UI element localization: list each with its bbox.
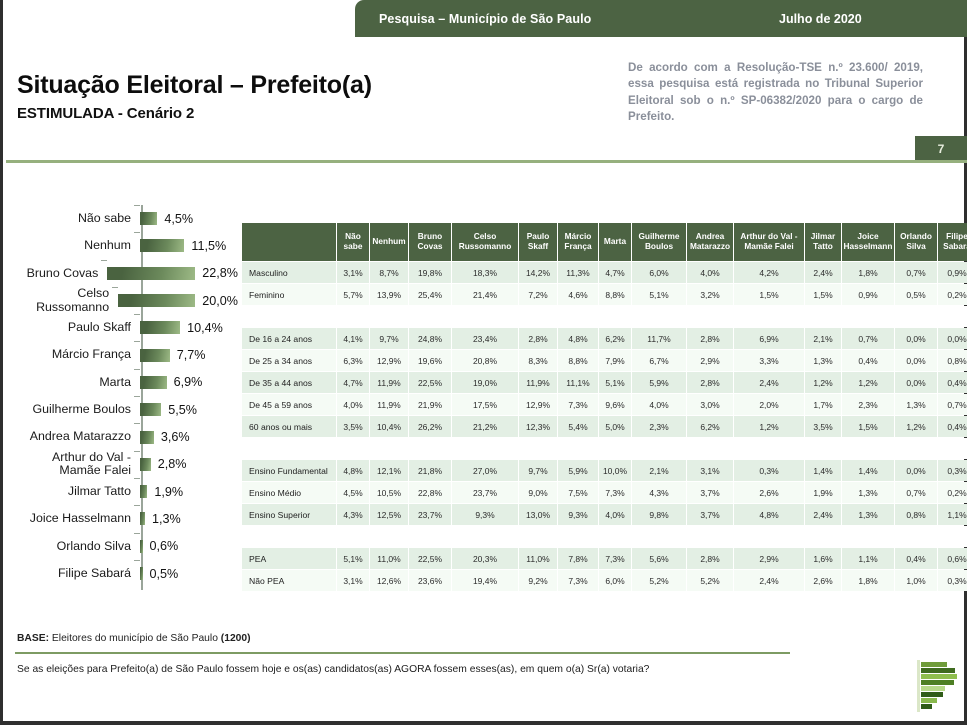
header-date: Julho de 2020 — [779, 12, 862, 26]
crosstab-cell: 1,2% — [895, 416, 937, 437]
crosstab-cell: 11,0% — [370, 548, 408, 569]
crosstab-cell: 21,9% — [409, 394, 451, 415]
crosstab-cell: 1,1% — [938, 504, 967, 525]
axis-tick — [134, 232, 140, 233]
crosstab-cell: 12,9% — [370, 350, 408, 371]
bar-row: Arthur do Val -Mamãe Falei2,8% — [13, 451, 238, 478]
crosstab-cell: 19,0% — [452, 372, 518, 393]
bar-category-label: Joice Hasselmann — [13, 512, 140, 525]
crosstab-cell: 9,0% — [519, 482, 557, 503]
bar-value-label: 0,5% — [150, 567, 179, 581]
crosstab-cell: 12,3% — [519, 416, 557, 437]
title-block: Situação Eleitoral – Prefeito(a) ESTIMUL… — [17, 72, 372, 122]
bar-category-label: Arthur do Val -Mamãe Falei — [13, 451, 140, 478]
crosstab-cell: 0,2% — [938, 284, 967, 305]
table-row: De 45 a 59 anos4,0%11,9%21,9%17,5%12,9%7… — [242, 394, 967, 415]
bar-track: 3,6% — [140, 423, 238, 450]
bar-row: Filipe Sabará0,5% — [13, 560, 238, 587]
crosstab-cell: 4,3% — [632, 482, 686, 503]
bar-row: Jilmar Tatto1,9% — [13, 478, 238, 505]
spacer-cell — [242, 438, 967, 459]
crosstab-cell: 20,3% — [452, 548, 518, 569]
axis-tick — [134, 205, 140, 206]
crosstab-cell: 6,9% — [734, 328, 804, 349]
crosstab-cell: 12,6% — [370, 570, 408, 591]
crosstab-cell: 20,8% — [452, 350, 518, 371]
table-row: De 16 a 24 anos4,1%9,7%24,8%23,4%2,8%4,8… — [242, 328, 967, 349]
crosstab-col-header: Bruno Covas — [409, 223, 451, 261]
crosstab-cell: 0,3% — [938, 570, 967, 591]
bar-row: Celso Russomanno20,0% — [13, 287, 238, 314]
bar — [140, 239, 184, 252]
axis-tick — [134, 560, 140, 561]
crosstab-cell: 13,0% — [519, 504, 557, 525]
crosstab-cell: 7,3% — [599, 548, 631, 569]
crosstab-col-header: Paulo Skaff — [519, 223, 557, 261]
crosstab-cell: 11,9% — [370, 394, 408, 415]
bar — [140, 567, 143, 580]
crosstab-cell: 7,3% — [558, 394, 598, 415]
crosstab-cell: 3,0% — [687, 394, 733, 415]
crosstab-cell: 4,3% — [337, 504, 369, 525]
bar-value-label: 5,5% — [168, 403, 197, 417]
crosstab-cell: 5,1% — [337, 548, 369, 569]
logo-bar — [921, 692, 943, 697]
bar-category-label: Jilmar Tatto — [13, 485, 140, 498]
crosstab-cell: 4,0% — [337, 394, 369, 415]
crosstab-cell: 5,7% — [337, 284, 369, 305]
crosstab-cell: 11,0% — [519, 548, 557, 569]
crosstab-cell: 11,3% — [558, 262, 598, 283]
bar — [118, 294, 195, 307]
crosstab-cell: 24,8% — [409, 328, 451, 349]
crosstab-col-header: Márcio França — [558, 223, 598, 261]
crosstab-cell: 8,8% — [599, 284, 631, 305]
crosstab-cell: 11,9% — [519, 372, 557, 393]
page-title: Situação Eleitoral – Prefeito(a) — [17, 72, 372, 98]
crosstab-col-header: Nenhum — [370, 223, 408, 261]
bar-row: Paulo Skaff10,4% — [13, 314, 238, 341]
base-label: BASE: — [17, 633, 49, 644]
crosstab-col-header: Jilmar Tatto — [805, 223, 841, 261]
crosstab-cell: 0,6% — [938, 548, 967, 569]
bar-row: Bruno Covas22,8% — [13, 260, 238, 287]
bar-category-label: Marta — [13, 376, 140, 389]
vote-intention-bar-chart: Não sabe4,5%Nenhum11,5%Bruno Covas22,8%C… — [13, 205, 238, 595]
crosstab-cell: 10,0% — [599, 460, 631, 481]
axis-tick — [112, 287, 118, 288]
table-row: Não PEA3,1%12,6%23,6%19,4%9,2%7,3%6,0%5,… — [242, 570, 967, 591]
table-row: PEA5,1%11,0%22,5%20,3%11,0%7,8%7,3%5,6%2… — [242, 548, 967, 569]
crosstab-col-header: Joice Hasselmann — [842, 223, 894, 261]
crosstab-group-spacer — [242, 438, 967, 459]
crosstab-cell: 0,0% — [895, 372, 937, 393]
footer-divider — [15, 652, 790, 654]
crosstab-cell: 0,4% — [895, 548, 937, 569]
crosstab-col-header: Celso Russomanno — [452, 223, 518, 261]
crosstab-cell: 2,1% — [805, 328, 841, 349]
crosstab-row-header: Não PEA — [242, 570, 336, 591]
crosstab-cell: 2,4% — [734, 372, 804, 393]
crosstab-cell: 5,9% — [558, 460, 598, 481]
bar-value-label: 1,9% — [154, 485, 183, 499]
crosstab-cell: 7,3% — [558, 570, 598, 591]
crosstab-cell: 4,8% — [558, 328, 598, 349]
crosstab-row-header: De 45 a 59 anos — [242, 394, 336, 415]
crosstab-cell: 0,8% — [938, 350, 967, 371]
crosstab-cell: 1,8% — [842, 570, 894, 591]
axis-tick — [134, 314, 140, 315]
crosstab-cell: 21,4% — [452, 284, 518, 305]
crosstab-cell: 6,2% — [687, 416, 733, 437]
crosstab-row-header: De 25 a 34 anos — [242, 350, 336, 371]
crosstab-cell: 2,9% — [687, 350, 733, 371]
crosstab-cell: 1,8% — [842, 262, 894, 283]
crosstab-cell: 11,1% — [558, 372, 598, 393]
bar-track: 22,8% — [107, 260, 238, 287]
bar-value-label: 10,4% — [187, 321, 223, 335]
crosstab-cell: 0,7% — [895, 262, 937, 283]
crosstab-cell: 0,0% — [938, 328, 967, 349]
bar-track: 0,5% — [140, 560, 238, 587]
bar-value-label: 20,0% — [202, 294, 238, 308]
bar-track: 1,9% — [140, 478, 238, 505]
crosstab-cell: 2,0% — [734, 394, 804, 415]
table-row: Ensino Fundamental4,8%12,1%21,8%27,0%9,7… — [242, 460, 967, 481]
bar-category-label: Andrea Matarazzo — [13, 430, 140, 443]
crosstab-cell: 3,7% — [687, 482, 733, 503]
crosstab-col-header: Não sabe — [337, 223, 369, 261]
crosstab-cell: 22,5% — [409, 548, 451, 569]
crosstab-cell: 2,3% — [842, 394, 894, 415]
crosstab-cell: 6,3% — [337, 350, 369, 371]
bar — [140, 403, 161, 416]
crosstab-cell: 1,6% — [805, 548, 841, 569]
crosstab-cell: 0,3% — [938, 460, 967, 481]
crosstab-cell: 19,4% — [452, 570, 518, 591]
axis-tick — [134, 505, 140, 506]
logo-bar — [921, 674, 957, 679]
bar-track: 6,9% — [140, 369, 238, 396]
bar-track: 2,8% — [140, 451, 238, 478]
bar-value-label: 3,6% — [161, 430, 190, 444]
crosstab-cell: 6,2% — [599, 328, 631, 349]
table-row: De 35 a 44 anos4,7%11,9%22,5%19,0%11,9%1… — [242, 372, 967, 393]
crosstab-cell: 2,6% — [734, 482, 804, 503]
crosstab-cell: 8,8% — [558, 350, 598, 371]
crosstab-cell: 0,8% — [895, 504, 937, 525]
crosstab-cell: 6,0% — [599, 570, 631, 591]
crosstab-cell: 4,8% — [734, 504, 804, 525]
crosstab-cell: 7,2% — [519, 284, 557, 305]
crosstab-cell: 0,0% — [895, 460, 937, 481]
crosstab-cell: 2,3% — [632, 416, 686, 437]
logo-bar — [921, 698, 937, 703]
crosstab-cell: 3,3% — [734, 350, 804, 371]
table-row: Feminino5,7%13,9%25,4%21,4%7,2%4,6%8,8%5… — [242, 284, 967, 305]
bar-row: Marta6,9% — [13, 369, 238, 396]
crosstab-cell: 14,2% — [519, 262, 557, 283]
bar — [140, 431, 154, 444]
bar-category-label: Márcio França — [13, 348, 140, 361]
crosstab-cell: 4,8% — [337, 460, 369, 481]
crosstab-cell: 5,0% — [599, 416, 631, 437]
crosstab-cell: 2,4% — [805, 504, 841, 525]
crosstab-cell: 4,0% — [632, 394, 686, 415]
crosstab-cell: 0,9% — [842, 284, 894, 305]
crosstab-cell: 2,1% — [632, 460, 686, 481]
crosstab-cell: 0,4% — [938, 372, 967, 393]
header-band: Pesquisa – Município de São Paulo Julho … — [355, 0, 967, 37]
bar-value-label: 7,7% — [177, 348, 206, 362]
bar-category-label: Paulo Skaff — [13, 321, 140, 334]
axis-tick — [134, 396, 140, 397]
base-count: (1200) — [221, 633, 251, 644]
crosstab-col-header: Marta — [599, 223, 631, 261]
bar-category-label: Guilherme Boulos — [13, 403, 140, 416]
crosstab-cell: 1,2% — [734, 416, 804, 437]
crosstab-cell: 11,9% — [370, 372, 408, 393]
crosstab-col-header: Guilherme Boulos — [632, 223, 686, 261]
axis-tick — [134, 341, 140, 342]
crosstab-cell: 4,0% — [687, 262, 733, 283]
crosstab-cell: 27,0% — [452, 460, 518, 481]
crosstab-cell: 23,7% — [409, 504, 451, 525]
page-subtitle: ESTIMULADA - Cenário 2 — [17, 105, 372, 122]
crosstab-cell: 5,2% — [687, 570, 733, 591]
axis-tick — [101, 260, 107, 261]
bar — [140, 458, 151, 471]
crosstab-cell: 0,5% — [895, 284, 937, 305]
crosstab-table: Não sabeNenhumBruno CovasCelso Russomann… — [241, 222, 967, 592]
crosstab-cell: 1,3% — [842, 482, 894, 503]
bar-value-label: 0,6% — [150, 539, 179, 553]
crosstab-cell: 4,2% — [734, 262, 804, 283]
crosstab-cell: 19,8% — [409, 262, 451, 283]
base-text: Eleitores do município de São Paulo — [52, 633, 218, 644]
bar-category-label: Nenhum — [13, 239, 140, 252]
base-line: BASE: Eleitores do município de São Paul… — [17, 633, 251, 644]
crosstab-cell: 5,9% — [632, 372, 686, 393]
crosstab-cell: 10,4% — [370, 416, 408, 437]
bar-category-label: Celso Russomanno — [13, 287, 118, 314]
bar — [140, 485, 147, 498]
crosstab-cell: 2,8% — [687, 372, 733, 393]
bar-row: Orlando Silva0,6% — [13, 533, 238, 560]
bar — [140, 376, 167, 389]
logo-bar — [921, 686, 945, 691]
spacer-cell — [242, 306, 967, 327]
crosstab-cell: 8,7% — [370, 262, 408, 283]
crosstab-cell: 9,2% — [519, 570, 557, 591]
crosstab-cell: 1,4% — [842, 460, 894, 481]
bar-track: 20,0% — [118, 287, 238, 314]
crosstab-cell: 0,7% — [895, 482, 937, 503]
bar-rows-container: Não sabe4,5%Nenhum11,5%Bruno Covas22,8%C… — [13, 205, 238, 587]
crosstab-cell: 9,7% — [370, 328, 408, 349]
crosstab-row-header: Feminino — [242, 284, 336, 305]
crosstab-cell: 18,3% — [452, 262, 518, 283]
crosstab-cell: 5,1% — [632, 284, 686, 305]
crosstab-cell: 9,3% — [558, 504, 598, 525]
crosstab-cell: 5,6% — [632, 548, 686, 569]
crosstab-cell: 9,3% — [452, 504, 518, 525]
bar-row: Guilherme Boulos5,5% — [13, 396, 238, 423]
crosstab-cell: 5,4% — [558, 416, 598, 437]
crosstab-cell: 0,4% — [938, 416, 967, 437]
bar-value-label: 6,9% — [174, 375, 203, 389]
crosstab-row-header: PEA — [242, 548, 336, 569]
crosstab-cell: 4,5% — [337, 482, 369, 503]
question-text: Se as eleições para Prefeito(a) de São P… — [17, 664, 757, 675]
crosstab-group-spacer — [242, 306, 967, 327]
crosstab-cell: 7,9% — [599, 350, 631, 371]
crosstab-cell: 9,6% — [599, 394, 631, 415]
crosstab-cell: 22,5% — [409, 372, 451, 393]
resolution-note: De acordo com a Resolução-TSE n.º 23.600… — [628, 60, 923, 126]
crosstab-corner-cell — [242, 223, 336, 261]
crosstab-cell: 9,8% — [632, 504, 686, 525]
bar-value-label: 22,8% — [202, 266, 238, 280]
crosstab-cell: 4,0% — [599, 504, 631, 525]
bar-track: 11,5% — [140, 232, 238, 259]
table-row: 60 anos ou mais3,5%10,4%26,2%21,2%12,3%5… — [242, 416, 967, 437]
crosstab-row-header: De 35 a 44 anos — [242, 372, 336, 393]
crosstab-cell: 9,7% — [519, 460, 557, 481]
crosstab-cell: 2,4% — [734, 570, 804, 591]
crosstab-cell: 3,5% — [805, 416, 841, 437]
crosstab-cell: 1,2% — [805, 372, 841, 393]
crosstab-cell: 11,7% — [632, 328, 686, 349]
bar — [107, 267, 195, 280]
bar-row: Nenhum11,5% — [13, 232, 238, 259]
crosstab-cell: 17,5% — [452, 394, 518, 415]
bar-row: Joice Hasselmann1,3% — [13, 505, 238, 532]
bar — [140, 212, 157, 225]
header-divider — [6, 160, 967, 163]
crosstab-cell: 0,9% — [938, 262, 967, 283]
bar-track: 5,5% — [140, 396, 238, 423]
crosstab-cell: 26,2% — [409, 416, 451, 437]
crosstab-cell: 1,5% — [805, 284, 841, 305]
crosstab-cell: 13,9% — [370, 284, 408, 305]
axis-tick — [134, 478, 140, 479]
table-row: Masculino3,1%8,7%19,8%18,3%14,2%11,3%4,7… — [242, 262, 967, 283]
crosstab-cell: 8,3% — [519, 350, 557, 371]
table-row: Ensino Superior4,3%12,5%23,7%9,3%13,0%9,… — [242, 504, 967, 525]
bar-category-label: Bruno Covas — [13, 267, 107, 280]
crosstab-cell: 3,1% — [337, 570, 369, 591]
bar-value-label: 2,8% — [158, 457, 187, 471]
crosstab-col-header: Filipe Sabará — [938, 223, 967, 261]
logo-bar — [921, 704, 932, 709]
logo-bar — [921, 668, 955, 673]
crosstab-cell: 0,0% — [895, 328, 937, 349]
crosstab-cell: 10,5% — [370, 482, 408, 503]
p-logo-icon — [917, 660, 963, 712]
logo-bar — [921, 680, 954, 685]
crosstab-cell: 1,3% — [842, 504, 894, 525]
bar-category-label: Filipe Sabará — [13, 567, 140, 580]
crosstab-cell: 0,3% — [734, 460, 804, 481]
crosstab-row-header: De 16 a 24 anos — [242, 328, 336, 349]
crosstab-cell: 3,7% — [687, 504, 733, 525]
crosstab-cell: 7,5% — [558, 482, 598, 503]
bar-row: Andrea Matarazzo3,6% — [13, 423, 238, 450]
crosstab-cell: 7,8% — [558, 548, 598, 569]
crosstab-cell: 1,2% — [842, 372, 894, 393]
bar-track: 0,6% — [140, 533, 238, 560]
crosstab-cell: 1,9% — [805, 482, 841, 503]
crosstab-row-header: Masculino — [242, 262, 336, 283]
bar-value-label: 11,5% — [191, 239, 226, 253]
crosstab-row-header: Ensino Médio — [242, 482, 336, 503]
bar-category-label: Orlando Silva — [13, 540, 140, 553]
crosstab-cell: 19,6% — [409, 350, 451, 371]
crosstab-cell: 5,1% — [599, 372, 631, 393]
crosstab-cell: 4,7% — [337, 372, 369, 393]
crosstab-cell: 3,5% — [337, 416, 369, 437]
crosstab-row-header: Ensino Superior — [242, 504, 336, 525]
bar-row: Não sabe4,5% — [13, 205, 238, 232]
crosstab-cell: 0,7% — [938, 394, 967, 415]
crosstab-cell: 1,3% — [895, 394, 937, 415]
crosstab-cell: 0,2% — [938, 482, 967, 503]
crosstab-cell: 1,7% — [805, 394, 841, 415]
crosstab-cell: 7,3% — [599, 482, 631, 503]
bar — [140, 321, 180, 334]
crosstab-group-spacer — [242, 526, 967, 547]
crosstab-row-header: 60 anos ou mais — [242, 416, 336, 437]
crosstab-cell: 1,3% — [805, 350, 841, 371]
slide-canvas: Pesquisa – Município de São Paulo Julho … — [0, 0, 967, 725]
crosstab-cell: 12,5% — [370, 504, 408, 525]
crosstab-cell: 12,9% — [519, 394, 557, 415]
logo-spine — [917, 660, 920, 712]
crosstab-cell: 6,7% — [632, 350, 686, 371]
crosstab-cell: 22,8% — [409, 482, 451, 503]
crosstab-cell: 3,1% — [687, 460, 733, 481]
crosstab-col-header: Arthur do Val - Mamãe Falei — [734, 223, 804, 261]
axis-tick — [134, 451, 140, 452]
crosstab-col-header: Orlando Silva — [895, 223, 937, 261]
crosstab-cell: 23,7% — [452, 482, 518, 503]
bar-value-label: 1,3% — [152, 512, 181, 526]
crosstab-cell: 2,8% — [687, 328, 733, 349]
crosstab-cell: 2,8% — [687, 548, 733, 569]
bar-category-label: Não sabe — [13, 212, 140, 225]
page-number-badge: 7 — [915, 136, 967, 162]
axis-tick — [134, 533, 140, 534]
crosstab-cell: 2,6% — [805, 570, 841, 591]
spacer-cell — [242, 526, 967, 547]
bar — [140, 349, 170, 362]
bar-value-label: 4,5% — [164, 212, 193, 226]
crosstab-cell: 21,8% — [409, 460, 451, 481]
crosstab-cell: 2,9% — [734, 548, 804, 569]
crosstab-cell: 0,4% — [842, 350, 894, 371]
axis-tick — [134, 423, 140, 424]
crosstab-cell: 4,6% — [558, 284, 598, 305]
bar-track: 10,4% — [140, 314, 238, 341]
crosstab-body: Masculino3,1%8,7%19,8%18,3%14,2%11,3%4,7… — [242, 262, 967, 591]
crosstab-cell: 12,1% — [370, 460, 408, 481]
crosstab-cell: 1,4% — [805, 460, 841, 481]
bar — [140, 540, 143, 553]
crosstab-cell: 3,2% — [687, 284, 733, 305]
crosstab-col-header: Andrea Matarazzo — [687, 223, 733, 261]
crosstab-cell: 5,2% — [632, 570, 686, 591]
